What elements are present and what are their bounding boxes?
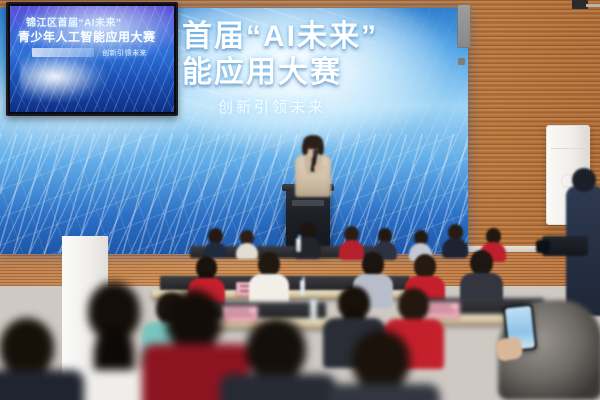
microphone-head-icon — [313, 149, 319, 155]
side-light-burst — [20, 56, 106, 102]
cabinet-seam — [551, 148, 585, 149]
speaker-hair-side-left — [302, 142, 308, 155]
led-screen-subtitle: 创新引领未来 — [218, 96, 326, 117]
side-display-panel: 锦江区首届“AI未来” 青少年人工智能应用大赛 创新引领未来 — [10, 6, 174, 112]
water-bottle — [296, 238, 301, 252]
water-bottle — [300, 280, 305, 296]
led-title-line1: 首届“AI未来” — [182, 22, 468, 52]
podium-speaker — [292, 138, 334, 196]
led-screen-title: 首届“AI未来” 能应用大赛 — [182, 22, 468, 88]
photo-scene: 首届“AI未来” 能应用大赛 创新引领未来 锦江区首届“AI未来” 青少年人工智… — [0, 0, 600, 400]
operator-head — [572, 168, 596, 192]
side-title-line2: 青少年人工智能应用大赛 — [18, 28, 170, 45]
podium-plate — [292, 200, 324, 206]
led-title-line2: 能应用大赛 — [182, 58, 468, 88]
left-side-display: 锦江区首届“AI未来” 青少年人工智能应用大赛 创新引领未来 — [6, 2, 178, 116]
wall-socket-icon — [458, 58, 465, 65]
wall-vent-icon — [457, 4, 471, 48]
speaker-hand — [314, 164, 321, 172]
namecard — [222, 306, 258, 322]
ceiling-rod — [586, 4, 600, 7]
side-banner-bar — [32, 48, 94, 57]
water-bottle — [310, 300, 317, 320]
camera-lens-icon — [536, 240, 550, 253]
side-title-line1: 锦江区首届“AI未来” — [26, 14, 168, 29]
side-tagline: 创新引领未来 — [102, 48, 147, 58]
speaker-hair-side-right — [318, 142, 324, 155]
namecard — [424, 302, 460, 318]
